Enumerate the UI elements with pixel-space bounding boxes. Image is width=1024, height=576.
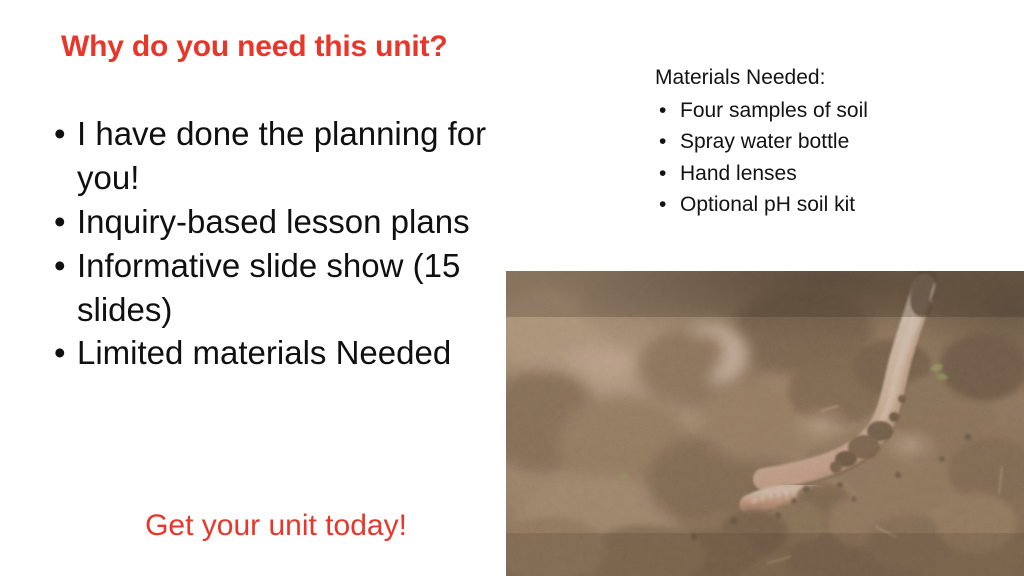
list-item: • Optional pH soil kit	[655, 189, 1005, 220]
benefit-label: Limited materials Needed	[77, 331, 505, 375]
benefit-label: Inquiry-based lesson plans	[77, 200, 505, 244]
benefits-list: • I have done the planning for you! • In…	[50, 112, 505, 375]
list-item: • Spray water bottle	[655, 126, 1005, 157]
bullet-icon: •	[659, 126, 666, 157]
materials-heading: Materials Needed:	[655, 64, 1005, 92]
material-label: Hand lenses	[680, 162, 797, 185]
bullet-icon: •	[54, 331, 66, 375]
call-to-action-text: Get your unit today!	[50, 508, 502, 544]
materials-panel: Materials Needed: • Four samples of soil…	[655, 64, 1005, 220]
list-item: • Four samples of soil	[655, 95, 1005, 126]
soil-photo-illustration	[506, 271, 1024, 576]
bullet-icon: •	[659, 189, 666, 220]
bullet-icon: •	[54, 200, 66, 244]
list-item: • Inquiry-based lesson plans	[50, 200, 505, 244]
list-item: • Hand lenses	[655, 158, 1005, 189]
benefit-label: Informative slide show (15 slides)	[77, 244, 505, 332]
list-item: • I have done the planning for you!	[50, 112, 505, 200]
benefit-label: I have done the planning for you!	[77, 112, 505, 200]
slide-canvas: Why do you need this unit? • I have done…	[0, 0, 1024, 576]
page-title: Why do you need this unit?	[61, 30, 581, 65]
list-item: • Limited materials Needed	[50, 331, 505, 375]
earthworms-in-soil-photo	[506, 271, 1024, 576]
list-item: • Informative slide show (15 slides)	[50, 244, 505, 332]
material-label: Spray water bottle	[680, 130, 849, 153]
bullet-icon: •	[54, 244, 66, 288]
material-label: Optional pH soil kit	[680, 193, 855, 216]
bullet-icon: •	[659, 158, 666, 189]
bullet-icon: •	[54, 112, 66, 156]
materials-list: • Four samples of soil • Spray water bot…	[655, 95, 1005, 219]
bullet-icon: •	[659, 95, 666, 126]
material-label: Four samples of soil	[680, 99, 868, 122]
